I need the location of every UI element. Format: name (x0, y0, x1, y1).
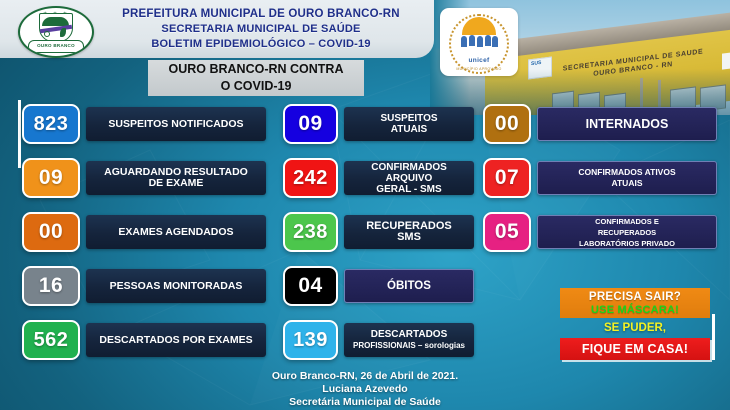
stat-value-box: 823 (22, 104, 80, 144)
footer-line-3: Secretária Municipal de Saúde (0, 396, 730, 409)
callout-line-1: PRECISA SAIR? (589, 291, 681, 303)
campaign-banner: OURO BRANCO-RN CONTRA O COVID-19 (148, 60, 364, 96)
stat-label-line: SUSPEITOS NOTIFICADOS (108, 119, 243, 130)
callout-mask-box: PRECISA SAIR? USE MÁSCARA! (560, 288, 710, 318)
stat-label-line: PROFISSIONAIS – sorologias (353, 340, 465, 351)
callout-line-2: USE MÁSCARA! (591, 304, 679, 316)
stat-label-line: INTERNADOS (586, 119, 669, 130)
stat-label-line: EXAMES AGENDADOS (118, 227, 233, 238)
stat-label-line: ÓBITOS (387, 281, 431, 292)
crest-ribbon: OURO BRANCO (28, 40, 84, 53)
stat-label: RECUPERADOSSMS (344, 215, 474, 249)
seal-word: unicef (469, 57, 490, 64)
stat-label: PESSOAS MONITORADAS (86, 269, 266, 303)
header-bar: ★ ★ ★ OURO BRANCO PREFEITURA MUNICIPAL D… (0, 0, 434, 58)
stat-label-line: DESCARTADOS (353, 329, 465, 340)
stat-value-box: 00 (483, 104, 531, 144)
stat-value-box: 562 (22, 320, 80, 360)
stat-label-line: SMS (366, 232, 452, 243)
crest-dot (44, 31, 50, 37)
stat-value-box: 09 (283, 104, 338, 144)
footer-line-2: Luciana Azevedo (0, 383, 730, 396)
stat-row: 00EXAMES AGENDADOS238RECUPERADOSSMS05CON… (0, 210, 730, 254)
unicef-seal-icon: unicef MUNICÍPIO APROVADO (440, 8, 518, 76)
stat-label-line: DESCARTADOS POR EXAMES (99, 335, 252, 346)
callout-frame-line (712, 314, 715, 360)
title-line-2: SECRETARIA MUNICIPAL DE SAÚDE (96, 22, 426, 37)
stat-label-line: ATUAIS (578, 178, 675, 189)
stat-row: 823SUSPEITOS NOTIFICADOS09SUSPEITOSATUAI… (0, 102, 730, 146)
stat-label-line: DE EXAME (104, 178, 248, 189)
stat-label: AGUARDANDO RESULTADODE EXAME (86, 161, 266, 195)
stat-value-box: 04 (283, 266, 338, 306)
stat-label: SUSPEITOS NOTIFICADOS (86, 107, 266, 141)
callout-line-3: SE PUDER, (560, 319, 710, 337)
stat-label: INTERNADOS (537, 107, 717, 141)
stat-label: CONFIRMADOS ERECUPERADOSLABORATÓRIOS PRI… (537, 215, 717, 249)
stat-value-box: 238 (283, 212, 338, 252)
covid-bulletin-poster: SECRETARIA MUNICIPAL DE SAUDE OURO BRANC… (0, 0, 730, 410)
banner-line-2: O COVID-19 (148, 78, 364, 95)
banner-line-1: OURO BRANCO-RN CONTRA (148, 61, 364, 78)
stat-label-line: PESSOAS MONITORADAS (110, 281, 243, 292)
page-title: PREFEITURA MUNICIPAL DE OURO BRANCO-RN S… (96, 7, 426, 52)
stat-row: 09AGUARDANDO RESULTADODE EXAME242CONFIRM… (0, 156, 730, 200)
title-line-3: BOLETIM EPIDEMIOLÓGICO – COVID-19 (96, 37, 426, 52)
crest-leaf (60, 28, 66, 37)
stat-value-box: 07 (483, 158, 531, 198)
stat-label-line: CONFIRMADOS ATIVOS (578, 167, 675, 178)
stat-label: DESCARTADOSPROFISSIONAIS – sorologias (344, 323, 474, 357)
seal-subtitle: MUNICÍPIO APROVADO (456, 67, 501, 71)
stat-label: CONFIRMADOS ARQUIVOGERAL - SMS (344, 161, 474, 195)
stat-label-line: RECUPERADOS (579, 227, 675, 238)
stat-label-line: CONFIRMADOS E (579, 216, 675, 227)
title-line-1: PREFEITURA MUNICIPAL DE OURO BRANCO-RN (96, 7, 426, 22)
stat-value-box: 242 (283, 158, 338, 198)
crest-shield (39, 13, 73, 42)
stat-label-line: GERAL - SMS (349, 184, 469, 195)
stat-value-box: 16 (22, 266, 80, 306)
stat-value-box: 00 (22, 212, 80, 252)
prevention-callout: PRECISA SAIR? USE MÁSCARA! SE PUDER, FIQ… (560, 288, 720, 364)
stat-label: SUSPEITOSATUAIS (344, 107, 474, 141)
stat-label: CONFIRMADOS ATIVOSATUAIS (537, 161, 717, 195)
stat-value-box: 139 (283, 320, 338, 360)
stat-label-line: CONFIRMADOS ARQUIVO (349, 162, 469, 184)
stat-label: EXAMES AGENDADOS (86, 215, 266, 249)
seal-figures (459, 35, 499, 47)
footer-signature: Ouro Branco-RN, 26 de Abril de 2021. Luc… (0, 370, 730, 409)
stat-value-box: 09 (22, 158, 80, 198)
footer-line-1: Ouro Branco-RN, 26 de Abril de 2021. (0, 370, 730, 383)
callout-line-4: FIQUE EM CASA! (560, 338, 710, 360)
stat-value-box: 05 (483, 212, 531, 252)
stat-label-line: LABORATÓRIOS PRIVADO (579, 238, 675, 249)
stat-label: DESCARTADOS POR EXAMES (86, 323, 266, 357)
municipality-crest-icon: ★ ★ ★ OURO BRANCO (18, 6, 94, 58)
stat-label-line: SUSPEITOS (380, 113, 437, 124)
stat-label-line: ATUAIS (380, 124, 437, 135)
stat-label: ÓBITOS (344, 269, 474, 303)
